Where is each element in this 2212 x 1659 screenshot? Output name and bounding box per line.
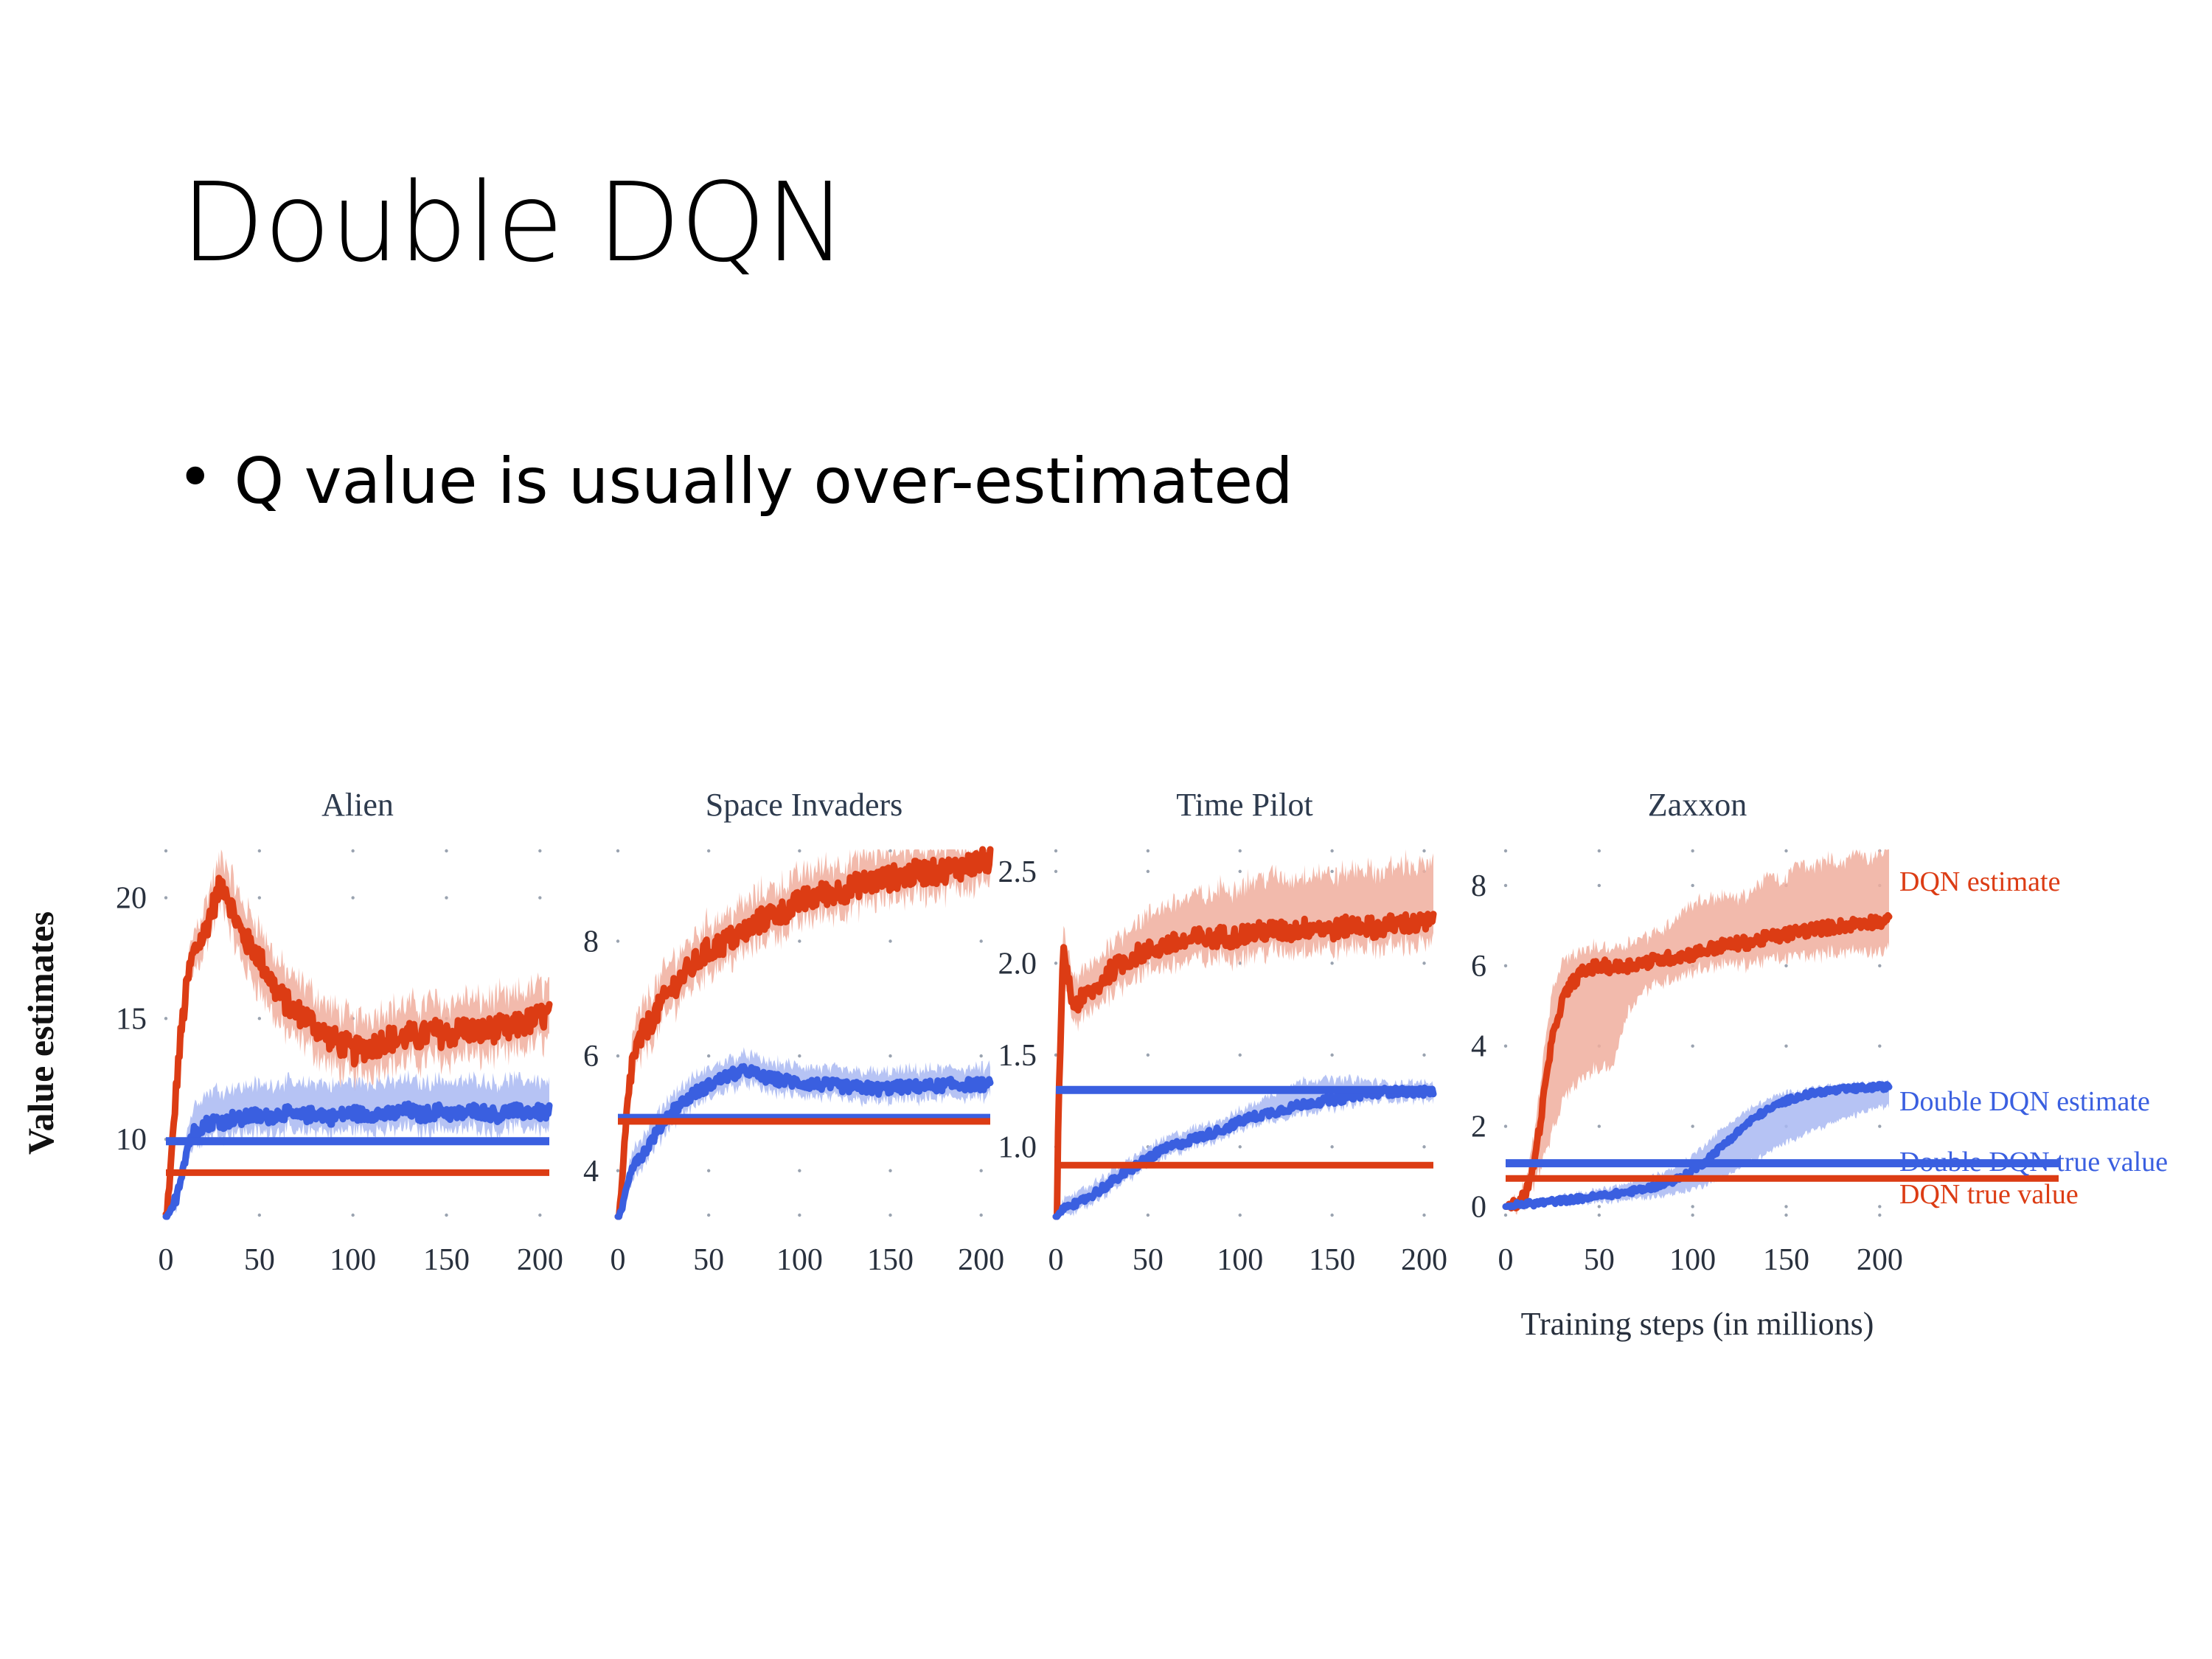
grid-dot [1784, 1214, 1787, 1217]
grid-dot [1330, 1054, 1333, 1057]
x-tick-label: 150 [1309, 1243, 1355, 1277]
grid-dot [258, 849, 261, 852]
y-tick-label: 20 [116, 882, 147, 916]
x-tick-label: 50 [244, 1243, 275, 1277]
grid-dot [445, 849, 448, 852]
y-tick-label: 8 [583, 925, 599, 959]
grid-dot [538, 896, 541, 899]
double-dqn-estimate-band [1506, 1079, 1889, 1210]
grid-dot [258, 896, 261, 899]
grid-dot [1598, 849, 1601, 852]
grid-dot [1504, 884, 1507, 887]
grid-dot [1691, 1214, 1694, 1217]
legend-label-double-dqn-estimate: Double DQN estimate [1899, 1086, 2150, 1117]
x-tick-label: 0 [159, 1243, 174, 1277]
grid-dot [1878, 1044, 1881, 1047]
y-tick-label: 0 [1471, 1190, 1486, 1224]
grid-dot [798, 1214, 801, 1217]
y-tick-label: 6 [1471, 950, 1486, 984]
grid-dot [164, 849, 167, 852]
panel-title: Time Pilot [1176, 787, 1312, 823]
y-tick-label: 1.5 [998, 1039, 1037, 1073]
y-tick-label: 2 [1471, 1110, 1486, 1144]
grid-dot [1239, 849, 1242, 852]
grid-dot [707, 1054, 710, 1057]
grid-dot [164, 896, 167, 899]
grid-dot [1147, 870, 1150, 873]
chart-panel-alien: Alien101520050100150200 [116, 787, 563, 1277]
legend-label-dqn-estimate: DQN estimate [1899, 866, 2060, 897]
grid-dot [616, 939, 619, 942]
y-tick-label: 2.0 [998, 947, 1037, 981]
grid-dot [1147, 1214, 1150, 1217]
x-tick-label: 100 [1669, 1243, 1716, 1277]
grid-dot [351, 896, 354, 899]
panel-title: Alien [321, 787, 394, 823]
x-tick-label: 50 [1133, 1243, 1164, 1277]
y-tick-label: 8 [1471, 869, 1486, 903]
grid-dot [351, 1214, 354, 1217]
y-tick-label: 10 [116, 1123, 147, 1157]
bullet-list-item: • Q value is usually over-estimated [177, 450, 1293, 513]
grid-dot [258, 1017, 261, 1020]
grid-dot [538, 1214, 541, 1217]
grid-dot [1504, 849, 1507, 852]
grid-dot [1330, 961, 1333, 964]
x-tick-label: 50 [693, 1243, 724, 1277]
grid-dot [258, 1214, 261, 1217]
grid-dot [888, 849, 891, 852]
grid-dot [798, 1054, 801, 1057]
grid-dot [707, 1169, 710, 1172]
grid-dot [1598, 884, 1601, 887]
grid-dot [1504, 1044, 1507, 1047]
grid-dot [1784, 1205, 1787, 1208]
grid-dot [1422, 961, 1425, 964]
panel-title: Space Invaders [706, 787, 903, 823]
grid-dot [798, 939, 801, 942]
grid-dot [1598, 1124, 1601, 1127]
double-dqn-estimate-line [1056, 1088, 1433, 1217]
grid-dot [1691, 849, 1694, 852]
x-axis-label: Training steps (in millions) [1521, 1306, 1874, 1342]
grid-dot [1691, 884, 1694, 887]
grid-dot [1784, 964, 1787, 967]
y-tick-label: 4 [1471, 1030, 1486, 1064]
grid-dot [1239, 1145, 1242, 1148]
grid-dot [1878, 1205, 1881, 1208]
y-tick-label: 6 [583, 1040, 599, 1074]
x-tick-label: 200 [958, 1243, 1004, 1277]
grid-dot [979, 1214, 982, 1217]
grid-dot [1598, 1205, 1601, 1208]
legend-label-double-dqn-true-value: Double DQN true value [1899, 1147, 2168, 1178]
grid-dot [1147, 849, 1150, 852]
x-tick-label: 0 [1048, 1243, 1064, 1277]
grid-dot [445, 1214, 448, 1217]
chart-panel-time-pilot: Time Pilot1.01.52.02.5050100150200 [998, 787, 1448, 1277]
grid-dot [707, 849, 710, 852]
x-tick-label: 0 [1498, 1243, 1514, 1277]
grid-dot [888, 1169, 891, 1172]
grid-dot [351, 849, 354, 852]
bullet-marker-icon: • [177, 446, 214, 508]
y-tick-label: 1.0 [998, 1130, 1037, 1164]
grid-dot [1147, 1054, 1150, 1057]
grid-dot [979, 1054, 982, 1057]
grid-dot [616, 1054, 619, 1057]
double-dqn-estimate-line [166, 1104, 549, 1217]
grid-dot [1422, 1214, 1425, 1217]
x-tick-label: 0 [611, 1243, 626, 1277]
grid-dot [1691, 1205, 1694, 1208]
grid-dot [1598, 1214, 1601, 1217]
dqn-estimate-line [618, 849, 990, 1217]
grid-dot [1330, 870, 1333, 873]
x-tick-label: 200 [1401, 1243, 1447, 1277]
grid-dot [1878, 1124, 1881, 1127]
grid-dot [1878, 964, 1881, 967]
grid-dot [1422, 1145, 1425, 1148]
grid-dot [1054, 870, 1057, 873]
grid-dot [979, 1169, 982, 1172]
chart-panel-space-invaders: Space Invaders468050100150200 [583, 787, 1004, 1277]
grid-dot [798, 1169, 801, 1172]
figure-svg: Alien101520050100150200Space Invaders468… [0, 752, 2212, 1386]
double-dqn-estimate-band [618, 1047, 990, 1217]
grid-dot [1504, 1124, 1507, 1127]
grid-dot [1878, 1214, 1881, 1217]
x-tick-label: 100 [776, 1243, 823, 1277]
x-tick-label: 150 [423, 1243, 470, 1277]
page-title: Double DQN [181, 168, 846, 277]
panel-title: Zaxxon [1648, 787, 1747, 823]
grid-dot [1422, 1054, 1425, 1057]
value-estimates-figure: Alien101520050100150200Space Invaders468… [0, 752, 2212, 1386]
grid-dot [1784, 1044, 1787, 1047]
x-tick-label: 200 [1857, 1243, 1903, 1277]
grid-dot [707, 1214, 710, 1217]
grid-dot [164, 1017, 167, 1020]
grid-dot [1239, 870, 1242, 873]
x-tick-label: 100 [330, 1243, 376, 1277]
y-axis-label: Value estimates [20, 911, 61, 1155]
grid-dot [1422, 849, 1425, 852]
legend-label-dqn-true-value: DQN true value [1899, 1179, 2079, 1210]
x-tick-label: 100 [1217, 1243, 1263, 1277]
grid-dot [1330, 1145, 1333, 1148]
grid-dot [538, 849, 541, 852]
grid-dot [1691, 1124, 1694, 1127]
grid-dot [616, 849, 619, 852]
dqn-estimate-band [1056, 849, 1433, 1217]
grid-dot [616, 1169, 619, 1172]
grid-dot [1330, 849, 1333, 852]
grid-dot [979, 939, 982, 942]
grid-dot [888, 1214, 891, 1217]
x-tick-label: 200 [517, 1243, 563, 1277]
slide-canvas: Double DQN • Q value is usually over-est… [0, 0, 2212, 1659]
grid-dot [1239, 1054, 1242, 1057]
grid-dot [798, 849, 801, 852]
y-tick-label: 4 [583, 1155, 599, 1189]
y-tick-label: 2.5 [998, 855, 1037, 889]
grid-dot [445, 896, 448, 899]
grid-dot [1054, 849, 1057, 852]
grid-dot [1691, 1044, 1694, 1047]
dqn-estimate-line [166, 878, 549, 1214]
grid-dot [888, 1054, 891, 1057]
grid-dot [888, 939, 891, 942]
x-tick-label: 50 [1584, 1243, 1615, 1277]
x-tick-label: 150 [867, 1243, 914, 1277]
grid-dot [1054, 961, 1057, 964]
grid-dot [1504, 964, 1507, 967]
x-tick-label: 150 [1763, 1243, 1809, 1277]
grid-dot [1239, 1214, 1242, 1217]
grid-dot [1330, 1214, 1333, 1217]
grid-dot [1504, 1214, 1507, 1217]
y-tick-label: 15 [116, 1002, 147, 1036]
grid-dot [1784, 849, 1787, 852]
bullet-item-label: Q value is usually over-estimated [234, 450, 1293, 513]
double-dqn-estimate-line [618, 1066, 990, 1217]
